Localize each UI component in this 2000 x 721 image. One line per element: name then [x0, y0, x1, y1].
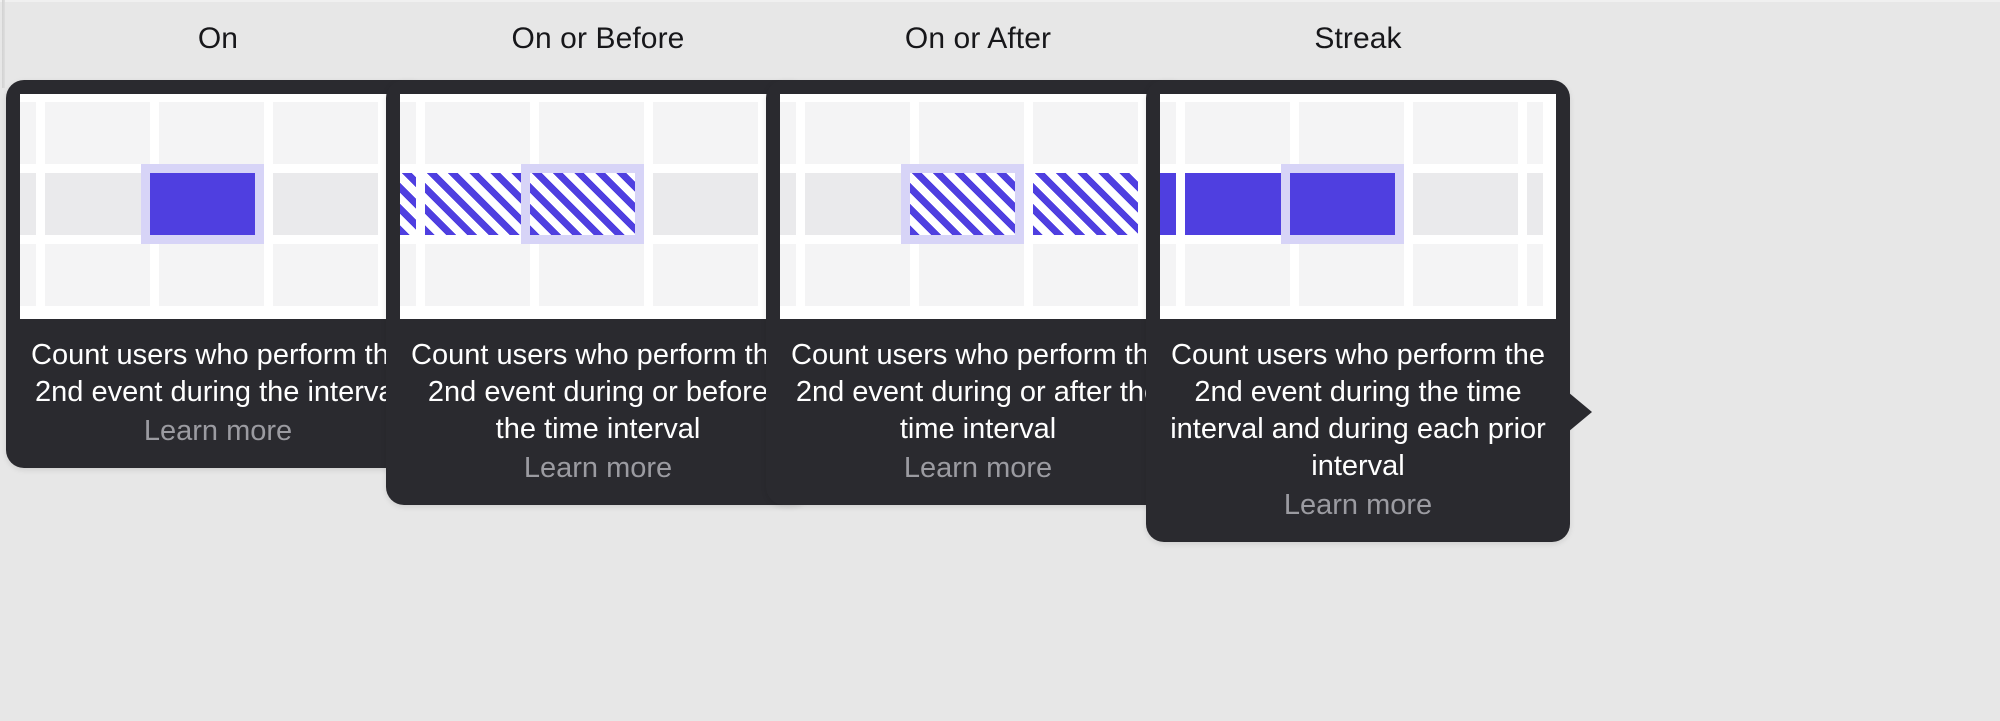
grid-cell — [400, 244, 416, 306]
interval-fill-solid — [150, 173, 255, 235]
grid-cell — [539, 102, 644, 164]
diagram-on — [20, 94, 416, 319]
prior-interval-hatch — [400, 173, 416, 235]
grid-cell — [1185, 102, 1290, 164]
card-on-or-after[interactable]: Count users who perform the 2nd event du… — [766, 80, 1190, 505]
prior-interval-hatch — [425, 173, 530, 235]
card-description-streak: Count users who perform the 2nd event du… — [1160, 337, 1556, 485]
learn-more-link-on[interactable]: Learn more — [20, 413, 416, 450]
card-wrap-on-or-after: Count users who perform the 2nd event du… — [766, 80, 1190, 505]
highlighted-interval-cell — [521, 164, 644, 244]
card-arrow-icon — [1568, 392, 1592, 432]
grid-cell — [1413, 102, 1518, 164]
grid-row-top — [400, 102, 796, 164]
grid-cell — [159, 244, 264, 306]
grid-cell — [1299, 244, 1404, 306]
column-title-on-or-before: On or Before — [512, 22, 685, 56]
column-title-on: On — [198, 22, 238, 56]
card-wrap-on-or-before: Count users who perform the 2nd event du… — [386, 80, 810, 505]
card-wrap-on: Count users who perform the 2nd event du… — [6, 80, 430, 468]
grid-cell — [1160, 102, 1176, 164]
card-on-or-before[interactable]: Count users who perform the 2nd event du… — [386, 80, 810, 505]
grid-cell — [919, 102, 1024, 164]
grid-cell — [653, 102, 758, 164]
grid-cell — [1527, 244, 1543, 306]
card-wrap-streak: Count users who perform the 2nd event du… — [1146, 80, 1570, 542]
grid-cell — [1033, 244, 1138, 306]
prior-interval-solid — [1160, 173, 1176, 235]
grid-cell — [45, 102, 150, 164]
grid-row-top — [780, 102, 1176, 164]
grid-row-bottom — [20, 244, 416, 306]
interval-fill-hatch — [530, 173, 635, 235]
grid-row-top — [1160, 102, 1556, 164]
highlighted-interval-cell — [901, 164, 1024, 244]
grid-cell — [425, 102, 530, 164]
card-description-on: Count users who perform the 2nd event du… — [20, 337, 416, 411]
grid-cell — [1185, 244, 1290, 306]
card-on[interactable]: Count users who perform the 2nd event du… — [6, 80, 430, 468]
grid-cell — [273, 244, 378, 306]
prior-interval-solid — [1185, 173, 1290, 235]
card-description-on-or-after: Count users who perform the 2nd event du… — [780, 337, 1176, 448]
grid-row-bottom — [780, 244, 1176, 306]
grid-cell — [539, 244, 644, 306]
column-title-on-or-after: On or After — [905, 22, 1051, 56]
grid-cell — [805, 102, 910, 164]
grid-row-top — [20, 102, 416, 164]
grid-cell — [653, 244, 758, 306]
grid-cell — [780, 244, 796, 306]
interval-fill-solid — [1290, 173, 1395, 235]
later-interval-hatch — [1033, 173, 1138, 235]
column-streak: Streak — [1128, 0, 1588, 542]
grid-cell — [1160, 244, 1176, 306]
learn-more-link-on-or-after[interactable]: Learn more — [780, 450, 1176, 487]
diagram-marks — [20, 173, 416, 235]
diagram-marks — [1160, 173, 1556, 235]
card-description-on-or-before: Count users who perform the 2nd event du… — [400, 337, 796, 448]
diagram-streak — [1160, 94, 1556, 319]
diagram-on-or-before — [400, 94, 796, 319]
grid-cell — [780, 102, 796, 164]
highlighted-interval-cell — [1281, 164, 1404, 244]
grid-cell — [159, 102, 264, 164]
grid-cell — [1299, 102, 1404, 164]
grid-cell — [425, 244, 530, 306]
grid-cell — [45, 244, 150, 306]
grid-cell — [1413, 244, 1518, 306]
grid-cell — [1033, 102, 1138, 164]
card-streak[interactable]: Count users who perform the 2nd event du… — [1146, 80, 1570, 542]
grid-cell — [805, 244, 910, 306]
highlighted-interval-cell — [141, 164, 264, 244]
grid-cell — [273, 102, 378, 164]
grid-cell — [400, 102, 416, 164]
interval-fill-hatch — [910, 173, 1015, 235]
column-title-streak: Streak — [1314, 22, 1401, 56]
diagram-on-or-after — [780, 94, 1176, 319]
grid-cell — [20, 244, 36, 306]
grid-cell — [20, 102, 36, 164]
grid-row-bottom — [1160, 244, 1556, 306]
diagram-marks — [400, 173, 796, 235]
grid-cell — [919, 244, 1024, 306]
diagram-marks — [780, 173, 1176, 235]
comparison-panel: On — [0, 0, 2000, 721]
learn-more-link-streak[interactable]: Learn more — [1160, 487, 1556, 524]
grid-cell — [1527, 102, 1543, 164]
learn-more-link-on-or-before[interactable]: Learn more — [400, 450, 796, 487]
grid-row-bottom — [400, 244, 796, 306]
